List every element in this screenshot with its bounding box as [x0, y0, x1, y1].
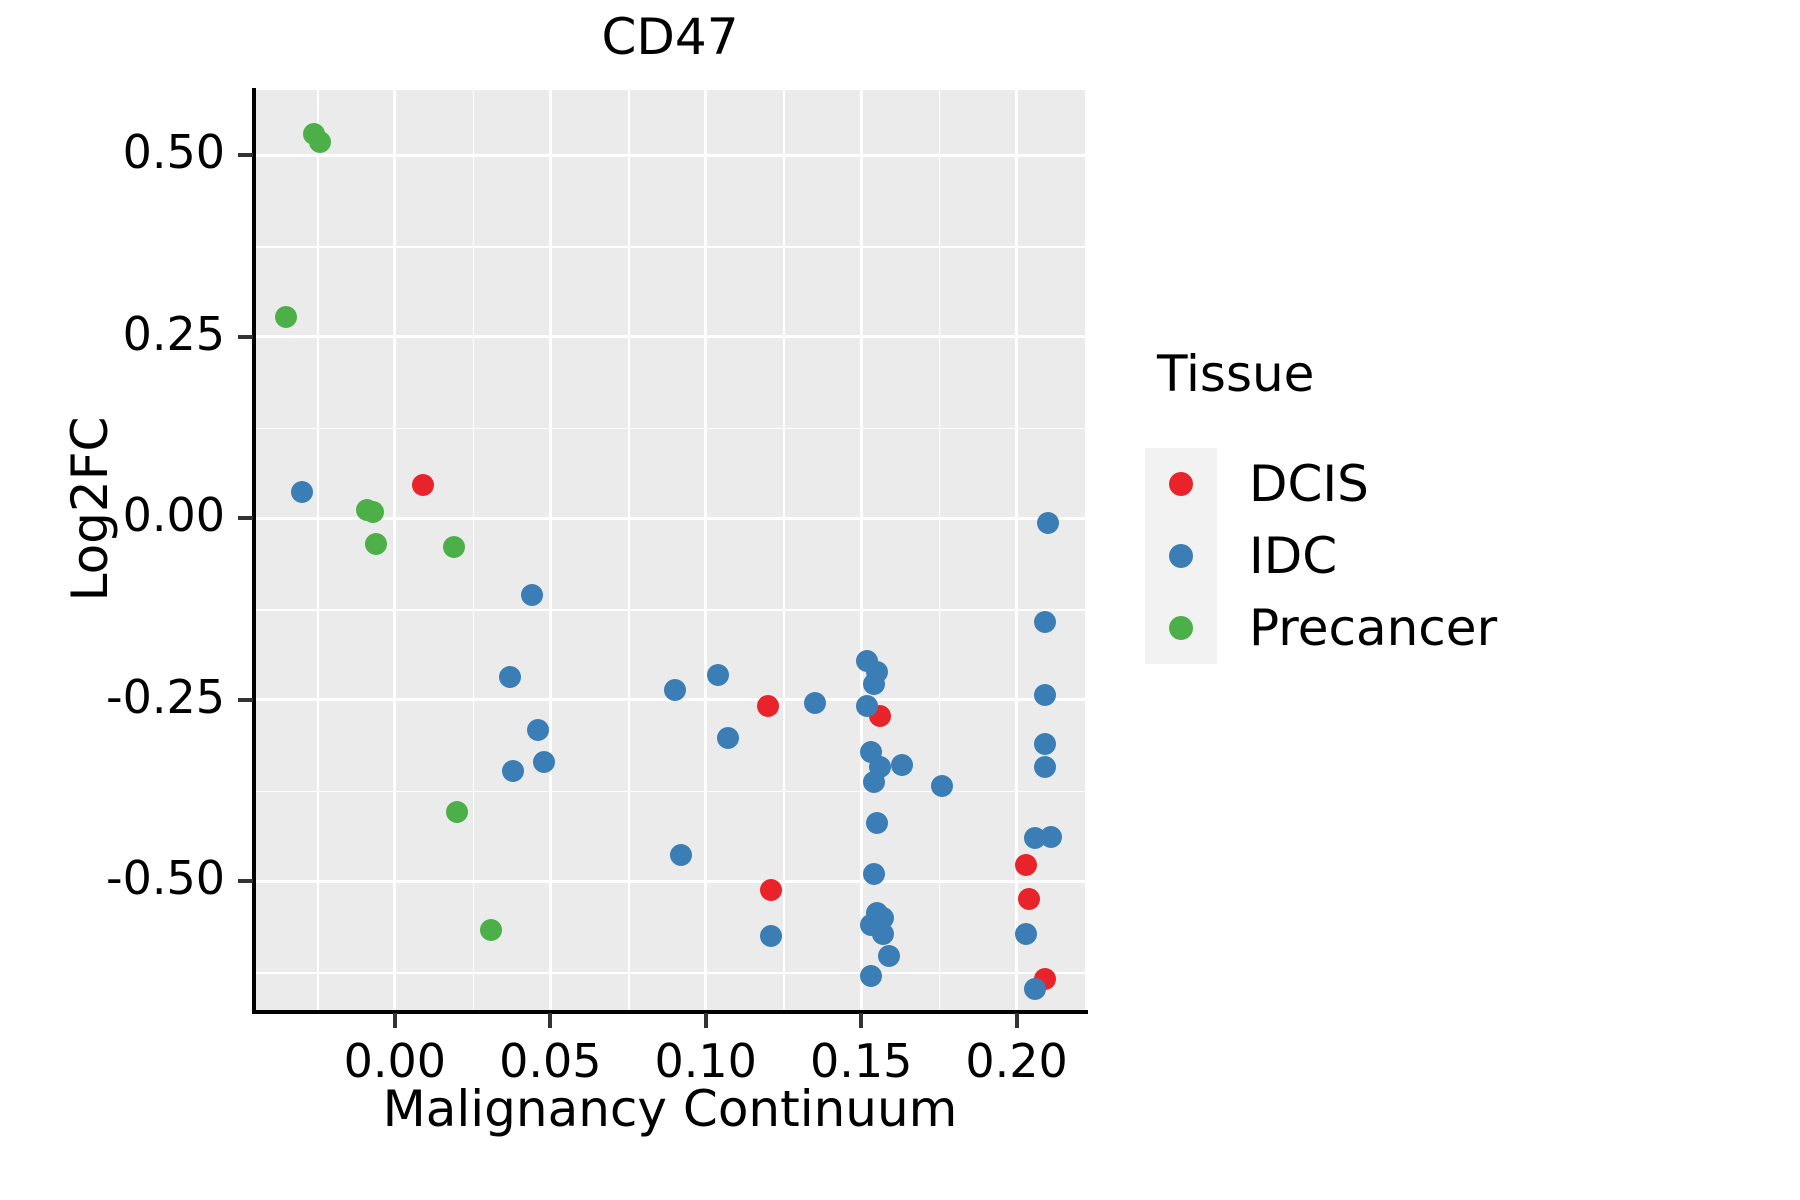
gridline-major-horizontal	[255, 880, 1085, 883]
legend-item-idc[interactable]: IDC	[1145, 520, 1745, 592]
data-point-idc	[872, 923, 894, 945]
data-point-idc	[804, 692, 826, 714]
y-tick-mark	[238, 153, 253, 157]
data-point-idc	[1037, 512, 1059, 534]
data-point-dcis	[412, 474, 434, 496]
data-point-idc	[1034, 756, 1056, 778]
x-tick-mark	[1015, 1013, 1019, 1028]
data-point-dcis	[757, 695, 779, 717]
y-tick-label: 0.50	[0, 125, 225, 179]
gridline-major-vertical	[704, 90, 707, 1012]
gridline-minor-vertical	[473, 90, 475, 1012]
x-tick-mark	[704, 1013, 708, 1028]
data-point-precancer	[480, 919, 502, 941]
legend-swatch	[1145, 592, 1217, 664]
data-point-idc	[863, 673, 885, 695]
data-point-idc	[670, 844, 692, 866]
data-point-precancer	[309, 131, 331, 153]
data-point-idc	[1034, 611, 1056, 633]
data-point-dcis	[760, 879, 782, 901]
y-tick-label: -0.50	[0, 851, 225, 905]
data-point-precancer	[362, 501, 384, 523]
x-axis-title: Malignancy Continuum	[255, 1080, 1085, 1138]
legend-label: Precancer	[1249, 603, 1497, 653]
gridline-minor-horizontal	[255, 246, 1085, 248]
data-point-dcis	[1015, 854, 1037, 876]
x-axis-line	[252, 1010, 1088, 1014]
data-point-idc	[1024, 978, 1046, 1000]
legend-label: IDC	[1249, 531, 1337, 581]
y-axis-line	[252, 88, 256, 1014]
data-point-precancer	[275, 306, 297, 328]
gridline-minor-vertical	[317, 90, 319, 1012]
data-point-idc	[1034, 733, 1056, 755]
y-tick-mark	[238, 879, 253, 883]
gridline-minor-vertical	[939, 90, 941, 1012]
gridline-minor-vertical	[628, 90, 630, 1012]
data-point-idc	[866, 812, 888, 834]
data-point-idc	[931, 775, 953, 797]
x-tick-mark	[548, 1013, 552, 1028]
data-point-idc	[856, 695, 878, 717]
data-point-idc	[760, 925, 782, 947]
gridline-minor-horizontal	[255, 428, 1085, 430]
data-point-idc	[863, 771, 885, 793]
y-tick-mark	[238, 516, 253, 520]
legend: Tissue DCISIDCPrecancer	[1145, 345, 1745, 664]
legend-title: Tissue	[1157, 345, 1745, 403]
data-point-idc	[1040, 826, 1062, 848]
data-point-idc	[291, 481, 313, 503]
y-tick-mark	[238, 335, 253, 339]
gridline-minor-horizontal	[255, 972, 1085, 974]
gridline-minor-horizontal	[255, 609, 1085, 611]
gridline-major-vertical	[393, 90, 396, 1012]
data-point-idc	[499, 666, 521, 688]
gridline-major-vertical	[549, 90, 552, 1012]
y-axis-title: Log2FC	[61, 189, 119, 829]
legend-swatch	[1145, 520, 1217, 592]
legend-dot-icon	[1169, 616, 1193, 640]
data-point-idc	[521, 584, 543, 606]
gridline-major-horizontal	[255, 154, 1085, 157]
data-point-idc	[502, 760, 524, 782]
data-point-dcis	[1018, 888, 1040, 910]
legend-dot-icon	[1169, 544, 1193, 568]
legend-label: DCIS	[1249, 459, 1369, 509]
gridline-major-vertical	[1015, 90, 1018, 1012]
legend-item-precancer[interactable]: Precancer	[1145, 592, 1745, 664]
data-point-idc	[1034, 684, 1056, 706]
data-point-idc	[863, 863, 885, 885]
data-point-idc	[664, 679, 686, 701]
x-tick-mark	[859, 1013, 863, 1028]
data-point-idc	[878, 945, 900, 967]
legend-entries: DCISIDCPrecancer	[1145, 448, 1745, 664]
plot-panel	[255, 90, 1085, 1012]
data-point-precancer	[446, 801, 468, 823]
data-point-idc	[860, 965, 882, 987]
legend-item-dcis[interactable]: DCIS	[1145, 448, 1745, 520]
data-point-idc	[717, 727, 739, 749]
data-point-idc	[891, 754, 913, 776]
x-tick-mark	[393, 1013, 397, 1028]
gridline-major-horizontal	[255, 335, 1085, 338]
page-title: CD47	[255, 10, 1085, 65]
legend-dot-icon	[1169, 472, 1193, 496]
y-tick-mark	[238, 698, 253, 702]
data-point-idc	[1015, 923, 1037, 945]
legend-swatch	[1145, 448, 1217, 520]
data-point-precancer	[365, 533, 387, 555]
gridline-minor-vertical	[783, 90, 785, 1012]
data-point-precancer	[443, 536, 465, 558]
data-point-idc	[527, 719, 549, 741]
gridline-minor-horizontal	[255, 791, 1085, 793]
data-point-idc	[707, 664, 729, 686]
